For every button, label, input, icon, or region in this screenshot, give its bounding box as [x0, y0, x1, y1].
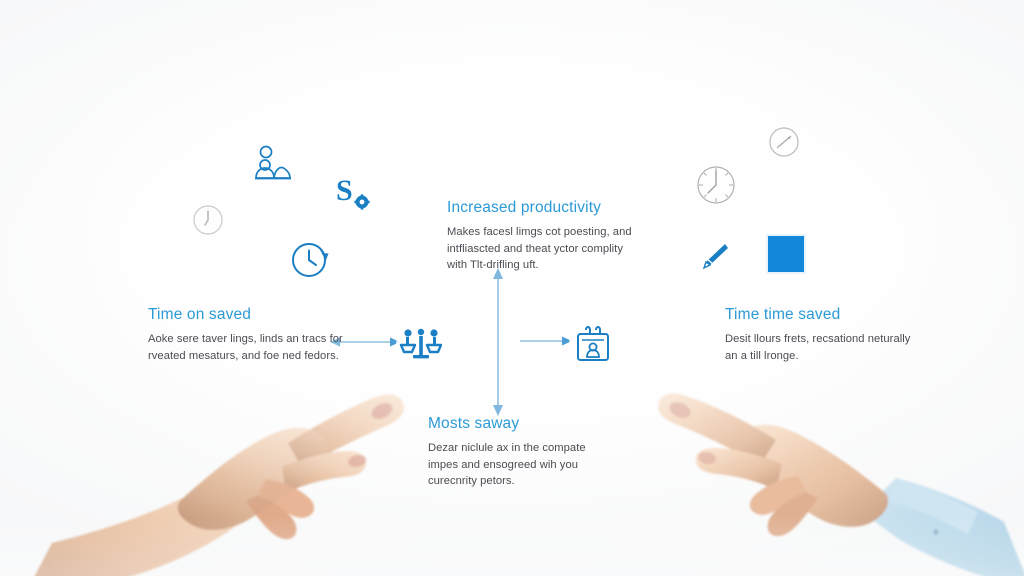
- compass-icon: [768, 126, 800, 158]
- hand-left: [30, 355, 450, 576]
- bottom-fade-overlay: [0, 516, 1024, 576]
- body-mosts-saway: Dezar niclule ax in the compate impes an…: [428, 440, 608, 490]
- text-block-top: Increased productivity Makes facesl limg…: [447, 199, 632, 274]
- illustration-canvas: S: [0, 0, 1024, 576]
- arrow-center-vertical: [488, 268, 508, 416]
- settings-s-gear-icon: S: [324, 166, 378, 220]
- hand-right: [600, 352, 1024, 576]
- text-block-bottom: Mosts saway Dezar niclule ax in the comp…: [428, 415, 608, 490]
- text-block-right: Time time saved Desit llours frets, recs…: [725, 306, 920, 364]
- heading-mosts-saway: Mosts saway: [428, 415, 608, 433]
- heading-increased-productivity: Increased productivity: [447, 199, 632, 217]
- balance-scales-icon: [396, 320, 446, 370]
- people-group-icon: [251, 142, 295, 186]
- arrow-horizontal-right: [520, 333, 572, 349]
- blue-square-shape: [766, 234, 806, 274]
- body-increased-productivity: Makes facesl limgs cot poesting, and int…: [447, 224, 632, 274]
- svg-text:S: S: [336, 174, 353, 207]
- body-time-time-saved: Desit llours frets, recsationd neturally…: [725, 331, 920, 364]
- body-time-on-saved: Aoke sere taver lings, linds an tracs fo…: [148, 331, 348, 364]
- heading-time-time-saved: Time time saved: [725, 306, 920, 324]
- analog-clock-icon: [694, 163, 738, 207]
- text-block-left: Time on saved Aoke sere taver lings, lin…: [148, 306, 348, 364]
- background-haze: [0, 0, 1024, 576]
- id-badge-icon: [569, 320, 617, 368]
- clock-arrow-icon: [284, 234, 334, 284]
- heading-time-on-saved: Time on saved: [148, 306, 348, 324]
- clock-outline-faint-icon: [190, 202, 226, 238]
- pen-icon: [694, 235, 736, 277]
